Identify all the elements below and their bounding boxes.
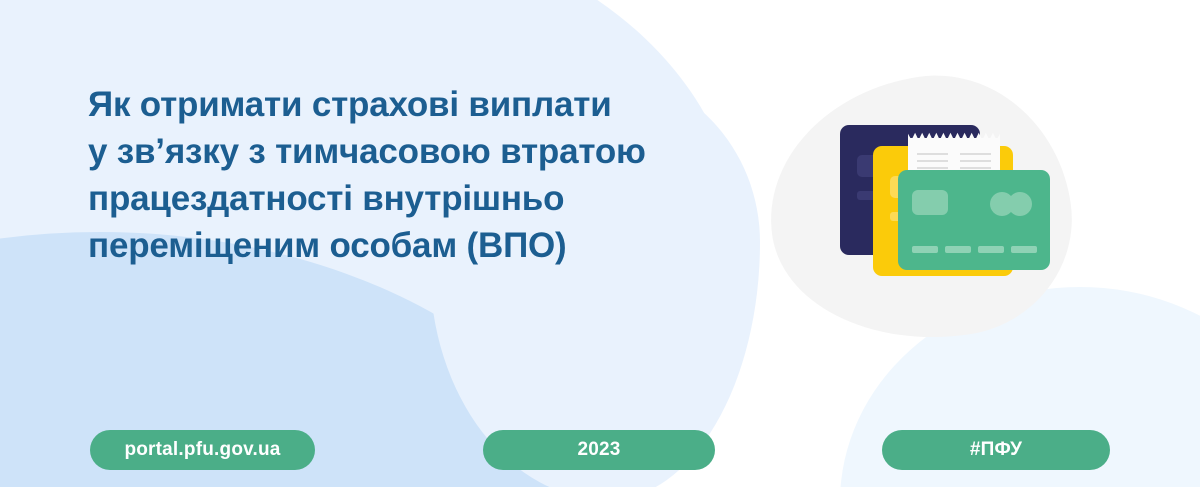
- pill-hashtag[interactable]: #ПФУ: [882, 430, 1110, 470]
- chip-icon: [912, 190, 948, 215]
- footer-pill-row: portal.pfu.gov.ua 2023 #ПФУ: [0, 430, 1200, 470]
- payment-network-logo-icon: [990, 192, 1034, 216]
- page-title: Як отримати страхові виплати у зв’язку з…: [88, 82, 728, 270]
- pfu-info-banner: Як отримати страхові виплати у зв’язку з…: [0, 0, 1200, 487]
- bank-cards-illustration: [830, 125, 1070, 300]
- pill-website[interactable]: portal.pfu.gov.ua: [90, 430, 315, 470]
- pill-year[interactable]: 2023: [483, 430, 715, 470]
- card-green-icon: [898, 170, 1050, 270]
- card-number-blocks: [912, 246, 1037, 253]
